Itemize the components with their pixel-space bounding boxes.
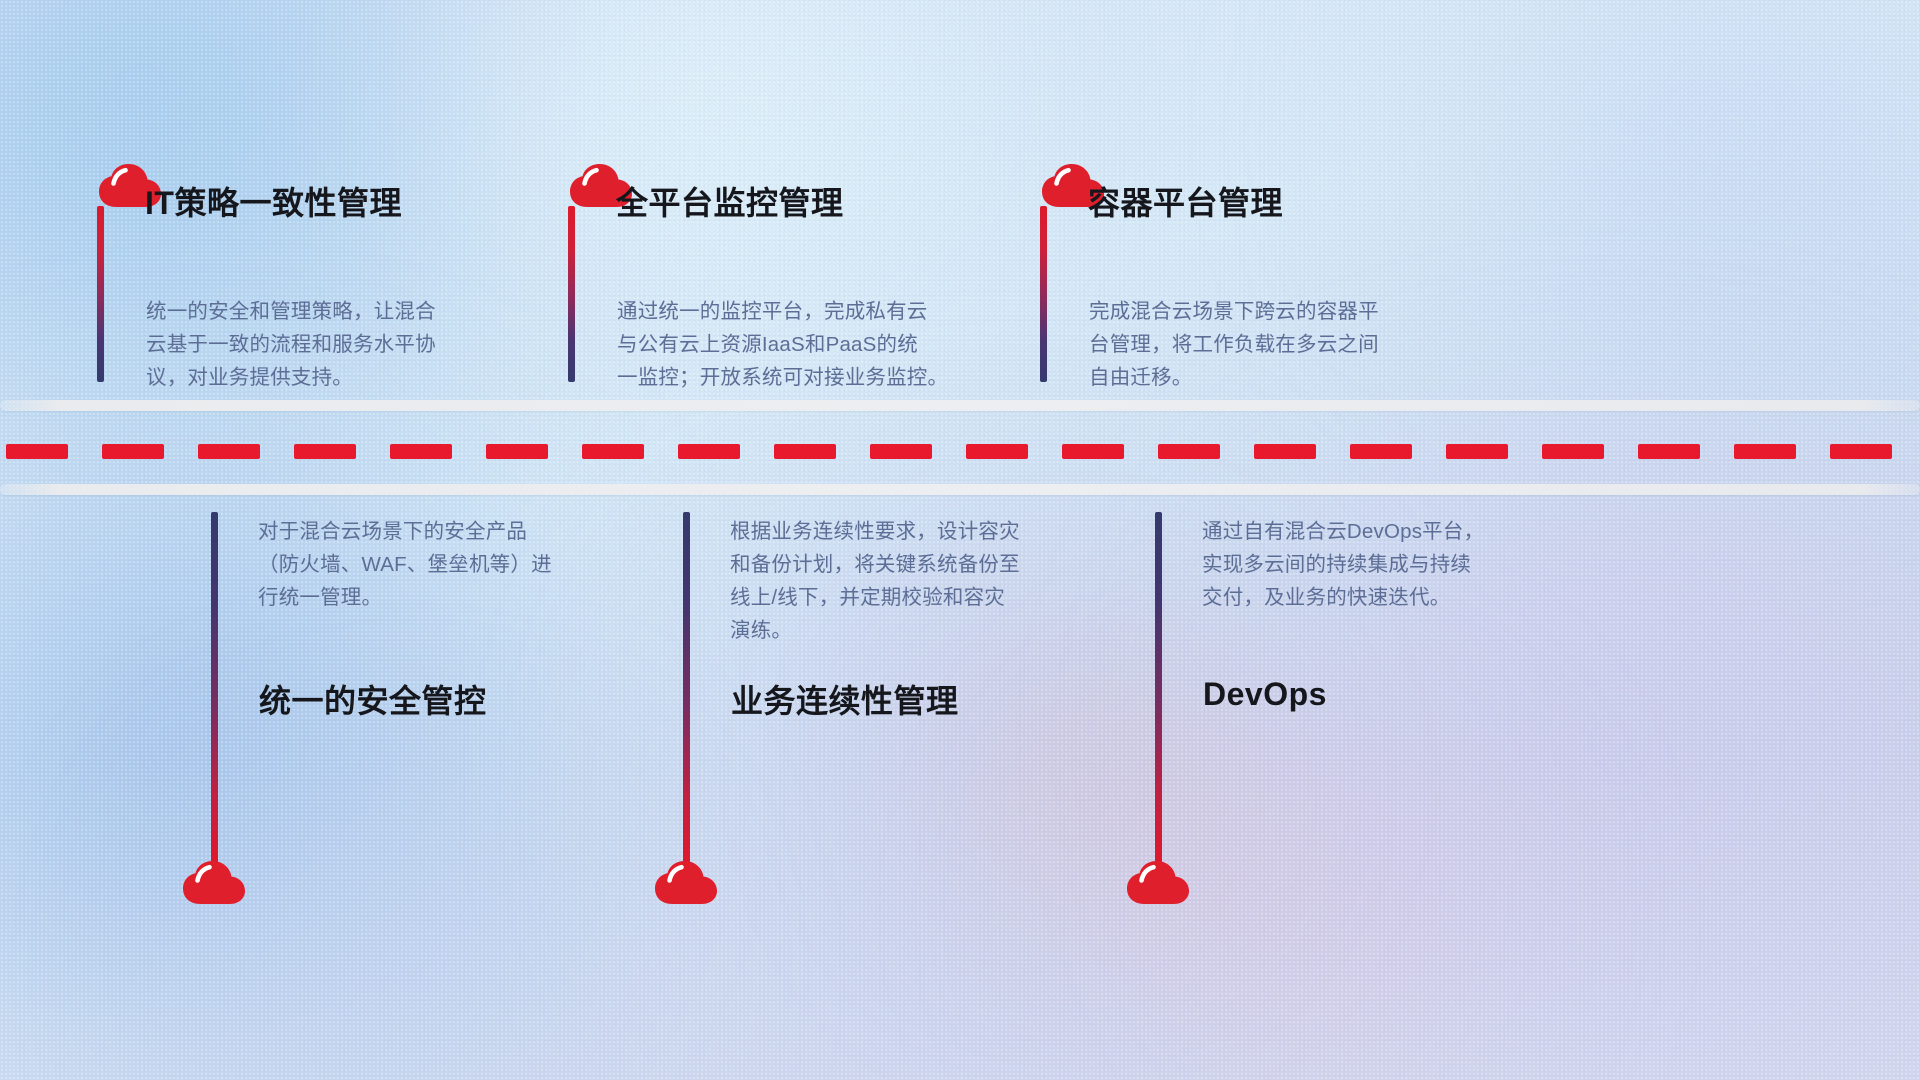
road-dash-segment (1254, 444, 1316, 459)
stem-business-continuity (683, 512, 690, 864)
road-dash-segment (1830, 444, 1892, 459)
heading-full-platform-monitoring: 全平台监控管理 (616, 178, 844, 224)
body-line: 演练。 (730, 614, 1160, 647)
infographic-canvas: IT策略一致性管理 统一的安全和管理策略，让混合 云基于一致的流程和服务水平协 … (0, 0, 1920, 1080)
heading-devops: DevOps (1203, 676, 1327, 713)
cloud-icon-flipped (1125, 860, 1191, 906)
pin-unified-security-control (181, 860, 251, 906)
body-line: 行统一管理。 (258, 581, 688, 614)
body-line: 实现多云间的持续集成与持续 (1202, 548, 1632, 581)
road-dash-segment (390, 444, 452, 459)
heading-container-platform: 容器平台管理 (1088, 178, 1283, 224)
body-line: （防火墙、WAF、堡垒机等）进 (258, 548, 688, 581)
heading-unified-security-control: 统一的安全管控 (259, 676, 487, 722)
body-business-continuity: 根据业务连续性要求，设计容灾 和备份计划，将关键系统备份至 线上/线下，并定期校… (730, 515, 1160, 647)
road-edge-top (0, 400, 1920, 411)
stem-full-platform-monitoring (568, 206, 575, 382)
road-dash-segment (1542, 444, 1604, 459)
body-it-policy-consistency: 统一的安全和管理策略，让混合 云基于一致的流程和服务水平协 议，对业务提供支持。 (146, 295, 576, 394)
road-center-dashes (0, 443, 1920, 459)
body-devops: 通过自有混合云DevOps平台， 实现多云间的持续集成与持续 交付，及业务的快速… (1202, 515, 1632, 614)
road-dash-segment (582, 444, 644, 459)
body-line: 与公有云上资源IaaS和PaaS的统 (617, 328, 1047, 361)
cloud-icon-flipped (181, 860, 247, 906)
road-dash-segment (102, 444, 164, 459)
road-dash-segment (6, 444, 68, 459)
road-dash-segment (774, 444, 836, 459)
body-line: 交付，及业务的快速迭代。 (1202, 581, 1632, 614)
road-dash-segment (1734, 444, 1796, 459)
body-line: 云基于一致的流程和服务水平协 (146, 328, 576, 361)
body-line: 台管理，将工作负载在多云之间 (1089, 328, 1519, 361)
road-dash-segment (198, 444, 260, 459)
stem-devops (1155, 512, 1162, 864)
road-edge-bottom (0, 484, 1920, 495)
body-line: 根据业务连续性要求，设计容灾 (730, 515, 1160, 548)
body-container-platform: 完成混合云场景下跨云的容器平 台管理，将工作负载在多云之间 自由迁移。 (1089, 295, 1519, 394)
body-full-platform-monitoring: 通过统一的监控平台，完成私有云 与公有云上资源IaaS和PaaS的统 一监控；开… (617, 295, 1047, 394)
pin-business-continuity (653, 860, 723, 906)
body-line: 自由迁移。 (1089, 361, 1519, 394)
stem-container-platform (1040, 206, 1047, 382)
body-line: 一监控；开放系统可对接业务监控。 (617, 361, 1047, 394)
body-line: 对于混合云场景下的安全产品 (258, 515, 688, 548)
road-dash-segment (966, 444, 1028, 459)
body-line: 议，对业务提供支持。 (146, 361, 576, 394)
cloud-icon-flipped (653, 860, 719, 906)
road-dash-segment (1158, 444, 1220, 459)
road-dash-segment (1062, 444, 1124, 459)
road-dash-segment (678, 444, 740, 459)
body-line: 完成混合云场景下跨云的容器平 (1089, 295, 1519, 328)
body-line: 通过自有混合云DevOps平台， (1202, 515, 1632, 548)
road-dash-segment (1638, 444, 1700, 459)
stem-unified-security-control (211, 512, 218, 864)
pin-devops (1125, 860, 1195, 906)
stem-it-policy-consistency (97, 206, 104, 382)
road-dash-segment (870, 444, 932, 459)
body-unified-security-control: 对于混合云场景下的安全产品 （防火墙、WAF、堡垒机等）进 行统一管理。 (258, 515, 688, 614)
heading-it-policy-consistency: IT策略一致性管理 (145, 178, 402, 224)
body-line: 和备份计划，将关键系统备份至 (730, 548, 1160, 581)
body-line: 通过统一的监控平台，完成私有云 (617, 295, 1047, 328)
road-dash-segment (486, 444, 548, 459)
heading-business-continuity: 业务连续性管理 (731, 676, 959, 722)
road-dash-segment (1350, 444, 1412, 459)
body-line: 统一的安全和管理策略，让混合 (146, 295, 576, 328)
road-dash-segment (1446, 444, 1508, 459)
body-line: 线上/线下，并定期校验和容灾 (730, 581, 1160, 614)
road-dash-segment (294, 444, 356, 459)
